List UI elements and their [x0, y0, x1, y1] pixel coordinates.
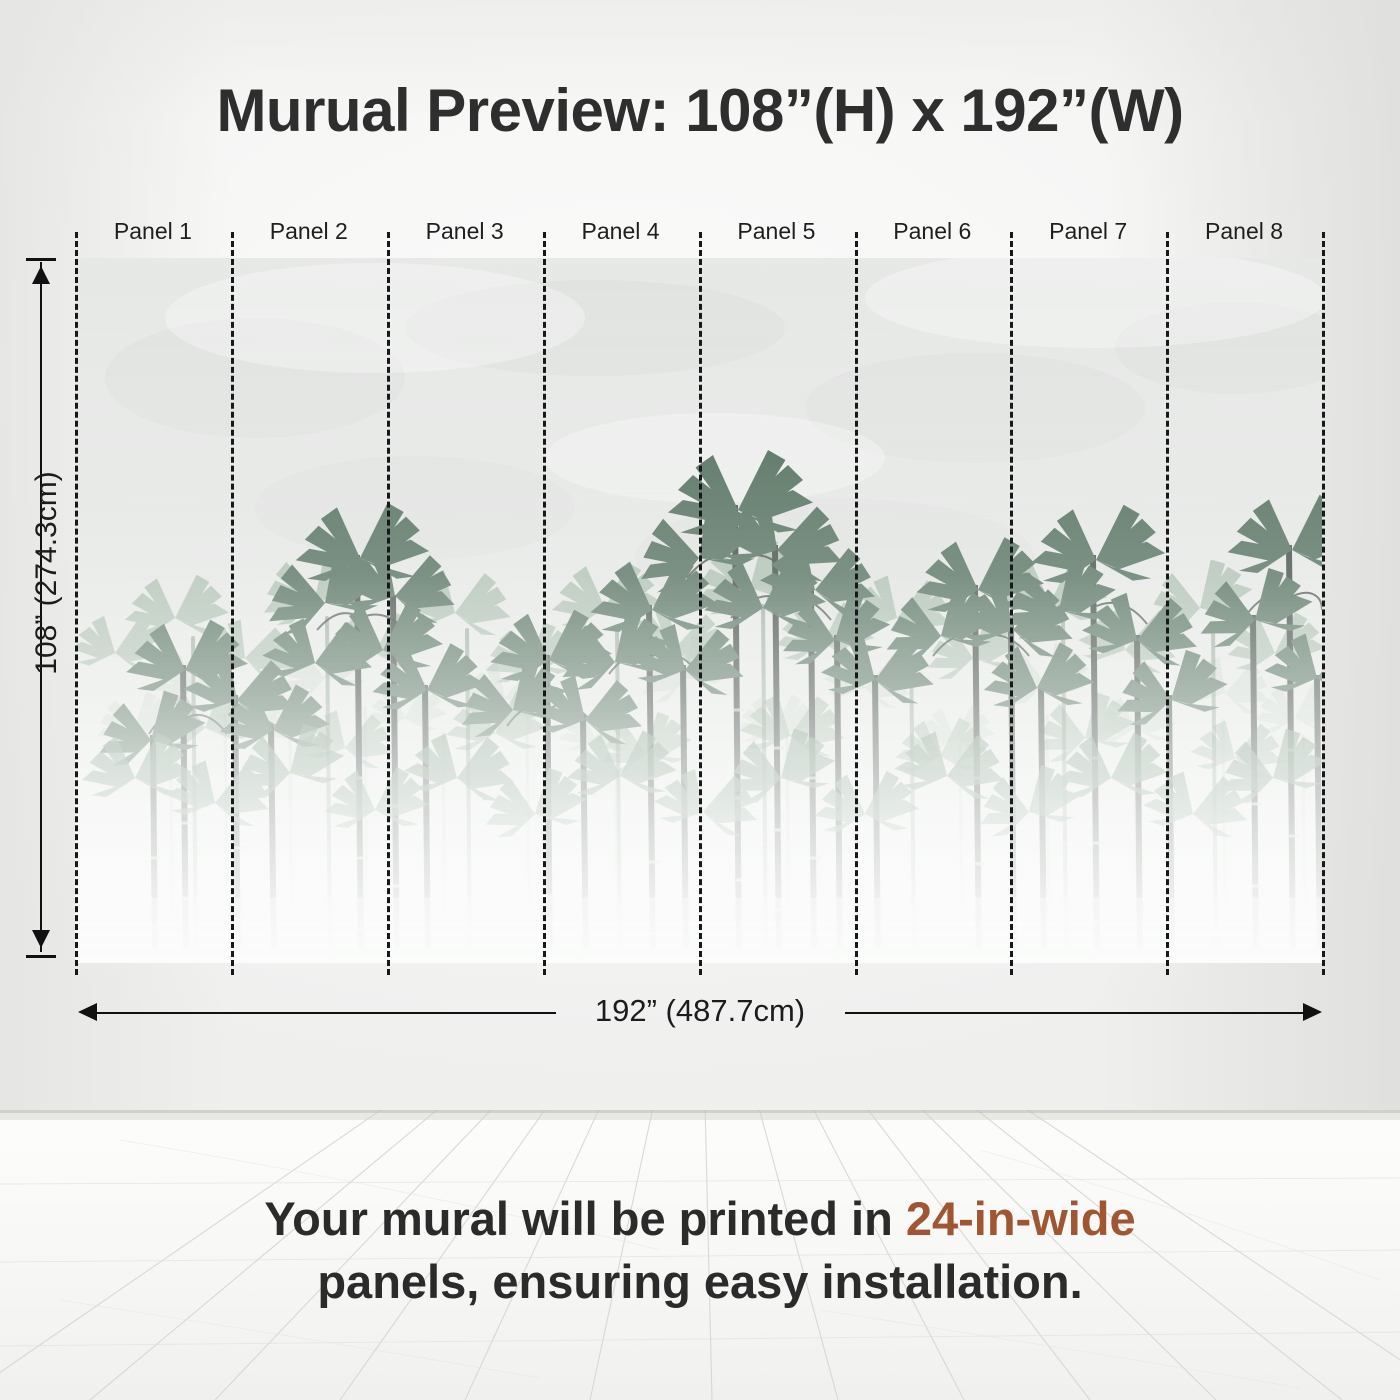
width-dimension-label: 192” (487.7cm) [0, 993, 1400, 1029]
panel-divider-7 [1166, 232, 1169, 975]
panel-label-6: Panel 6 [854, 214, 1010, 254]
panel-label-3: Panel 3 [387, 214, 543, 254]
panel-divider-1 [231, 232, 234, 975]
page-title: Murual Preview: 108”(H) x 192”(W) [0, 76, 1400, 145]
panel-divider-0 [75, 232, 78, 975]
panel-divider-8 [1322, 232, 1325, 975]
caption-line2: panels, ensuring easy installation. [317, 1255, 1082, 1308]
caption-accent-24-in-wide: 24-in-wide [906, 1192, 1136, 1245]
panel-divider-2 [387, 232, 390, 975]
width-arrow-line-right [845, 1012, 1305, 1014]
installation-caption: Your mural will be printed in 24-in-wide… [0, 1188, 1400, 1314]
panel-divider-5 [855, 232, 858, 975]
panel-label-1: Panel 1 [75, 214, 231, 254]
panel-label-4: Panel 4 [543, 214, 699, 254]
mural-preview-page: Murual Preview: 108”(H) x 192”(W) Panel … [0, 0, 1400, 1400]
panel-label-8: Panel 8 [1166, 214, 1322, 254]
height-dimension-label: 108” (274.3cm) [30, 423, 64, 723]
panel-divider-4 [699, 232, 702, 975]
panel-label-7: Panel 7 [1010, 214, 1166, 254]
panel-divider-6 [1010, 232, 1013, 975]
width-arrowhead-right-icon [1303, 1003, 1322, 1021]
height-arrowhead-up-icon [32, 266, 50, 284]
panel-label-5: Panel 5 [699, 214, 855, 254]
height-arrow-top-cap [26, 258, 56, 261]
height-arrowhead-down-icon [32, 930, 50, 948]
panel-divider-3 [543, 232, 546, 975]
panel-label-2: Panel 2 [231, 214, 387, 254]
caption-line1-before: Your mural will be printed in [264, 1192, 906, 1245]
height-arrow-bottom-cap [26, 955, 56, 958]
